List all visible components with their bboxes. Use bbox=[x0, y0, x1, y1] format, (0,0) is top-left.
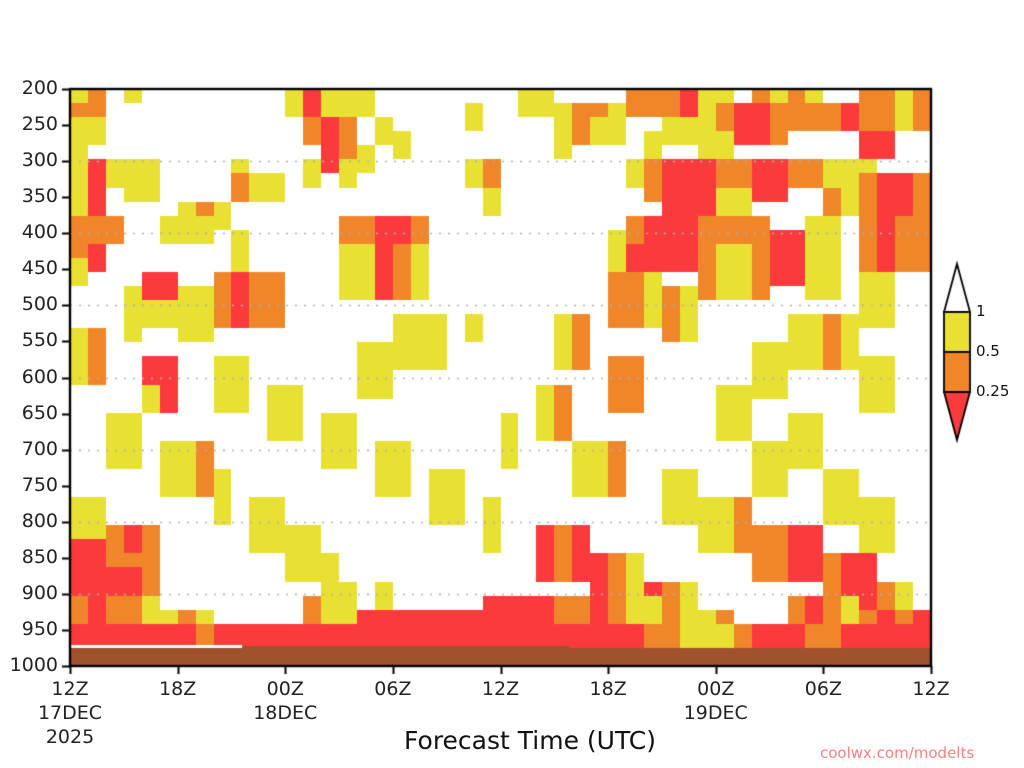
x-axis-tick-label: 00Z bbox=[671, 678, 761, 700]
y-axis-tick-label: 1000 bbox=[10, 654, 58, 676]
y-axis-tick-label: 950 bbox=[22, 618, 58, 640]
y-axis-tick-label: 700 bbox=[22, 438, 58, 460]
x-axis-tick-label: 17DEC bbox=[25, 702, 115, 724]
x-axis-tick-label: 06Z bbox=[348, 678, 438, 700]
y-axis-tick-label: 300 bbox=[22, 149, 58, 171]
y-axis-tick-label: 250 bbox=[22, 113, 58, 135]
colorbar-tick-label: 0.25 bbox=[976, 382, 1009, 400]
y-axis-tick-label: 800 bbox=[22, 510, 58, 532]
heatmap-plot-canvas[interactable] bbox=[0, 0, 1024, 768]
y-axis-tick-label: 850 bbox=[22, 546, 58, 568]
x-axis-tick-label: 19DEC bbox=[671, 702, 761, 724]
x-axis-tick-label: 12Z bbox=[456, 678, 546, 700]
x-axis-tick-label: 2025 bbox=[25, 726, 115, 748]
colorbar-tick-label: 1 bbox=[976, 302, 986, 320]
x-axis-label: Forecast Time (UTC) bbox=[270, 726, 790, 755]
x-axis-tick-label: 06Z bbox=[778, 678, 868, 700]
y-axis-tick-label: 350 bbox=[22, 185, 58, 207]
x-axis-tick-label: 18Z bbox=[563, 678, 653, 700]
y-axis-tick-label: 400 bbox=[22, 221, 58, 243]
y-axis-tick-label: 500 bbox=[22, 293, 58, 315]
x-axis-tick-label: 12Z bbox=[25, 678, 115, 700]
watermark-link[interactable]: coolwx.com/modelts bbox=[820, 744, 974, 762]
y-axis-tick-label: 650 bbox=[22, 402, 58, 424]
chart-root: 2025121712 HRRR Forecast Richardson# KIC… bbox=[0, 0, 1024, 768]
x-axis-tick-label: 18DEC bbox=[240, 702, 330, 724]
x-axis-tick-label: 18Z bbox=[133, 678, 223, 700]
y-axis-tick-label: 900 bbox=[22, 582, 58, 604]
y-axis-tick-label: 450 bbox=[22, 257, 58, 279]
y-axis-tick-label: 750 bbox=[22, 474, 58, 496]
y-axis-tick-label: 200 bbox=[22, 77, 58, 99]
y-axis-tick-label: 600 bbox=[22, 366, 58, 388]
colorbar-tick-label: 0.5 bbox=[976, 342, 1000, 360]
x-axis-tick-label: 00Z bbox=[240, 678, 330, 700]
y-axis-tick-label: 550 bbox=[22, 329, 58, 351]
x-axis-tick-label: 12Z bbox=[886, 678, 976, 700]
